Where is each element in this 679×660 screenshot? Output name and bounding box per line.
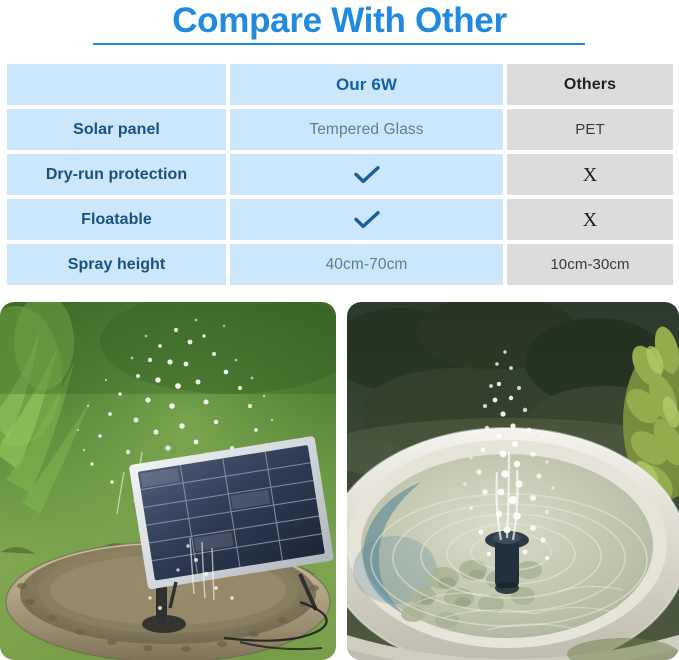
others-value: 10cm-30cm bbox=[550, 256, 629, 273]
feature-label: Solar panel bbox=[73, 121, 160, 139]
check-icon bbox=[354, 166, 380, 184]
table-cell-ours bbox=[230, 199, 503, 240]
table-cell-feature: Solar panel bbox=[7, 109, 226, 150]
table-cell-feature: Spray height bbox=[7, 244, 226, 285]
table-cell-others: 10cm-30cm bbox=[507, 244, 673, 285]
table-cell-ours: 40cm-70cm bbox=[230, 244, 503, 285]
cross-mark: X bbox=[583, 165, 597, 185]
others-value: PET bbox=[575, 121, 604, 138]
product-photo-solar-panel-fountain bbox=[0, 302, 336, 660]
ours-value: 40cm-70cm bbox=[326, 256, 408, 274]
feature-label: Spray height bbox=[68, 256, 166, 274]
table-header-cell-feature bbox=[7, 64, 226, 105]
feature-label: Dry-run protection bbox=[46, 166, 187, 184]
table-cell-ours bbox=[230, 154, 503, 195]
table-cell-others: X bbox=[507, 154, 673, 195]
ours-value: Tempered Glass bbox=[309, 121, 423, 139]
table-row: Solar panel Tempered Glass PET bbox=[7, 109, 673, 150]
comparison-table: Our 6W Others Solar panel Tempered Glass… bbox=[7, 64, 673, 287]
table-header-ours-label: Our 6W bbox=[336, 75, 397, 95]
table-header-others-label: Others bbox=[564, 76, 616, 94]
table-row: Spray height 40cm-70cm 10cm-30cm bbox=[7, 244, 673, 285]
check-icon bbox=[354, 211, 380, 229]
table-header-row: Our 6W Others bbox=[7, 64, 673, 105]
title-underline-rule bbox=[93, 43, 585, 45]
table-cell-others: PET bbox=[507, 109, 673, 150]
table-header-cell-others: Others bbox=[507, 64, 673, 105]
table-row: Floatable X bbox=[7, 199, 673, 240]
product-photo-birdbath-closeup bbox=[347, 302, 679, 660]
table-cell-feature: Dry-run protection bbox=[7, 154, 226, 195]
table-cell-ours: Tempered Glass bbox=[230, 109, 503, 150]
compare-with-other-page: Compare With Other Our 6W Others Solar p… bbox=[0, 0, 679, 660]
table-row: Dry-run protection X bbox=[7, 154, 673, 195]
table-header-cell-ours: Our 6W bbox=[230, 64, 503, 105]
table-cell-feature: Floatable bbox=[7, 199, 226, 240]
cross-mark: X bbox=[583, 210, 597, 230]
page-title-block: Compare With Other bbox=[0, 0, 679, 56]
product-photo-strip bbox=[0, 302, 679, 660]
page-title: Compare With Other bbox=[0, 0, 679, 40]
table-cell-others: X bbox=[507, 199, 673, 240]
feature-label: Floatable bbox=[81, 211, 152, 229]
